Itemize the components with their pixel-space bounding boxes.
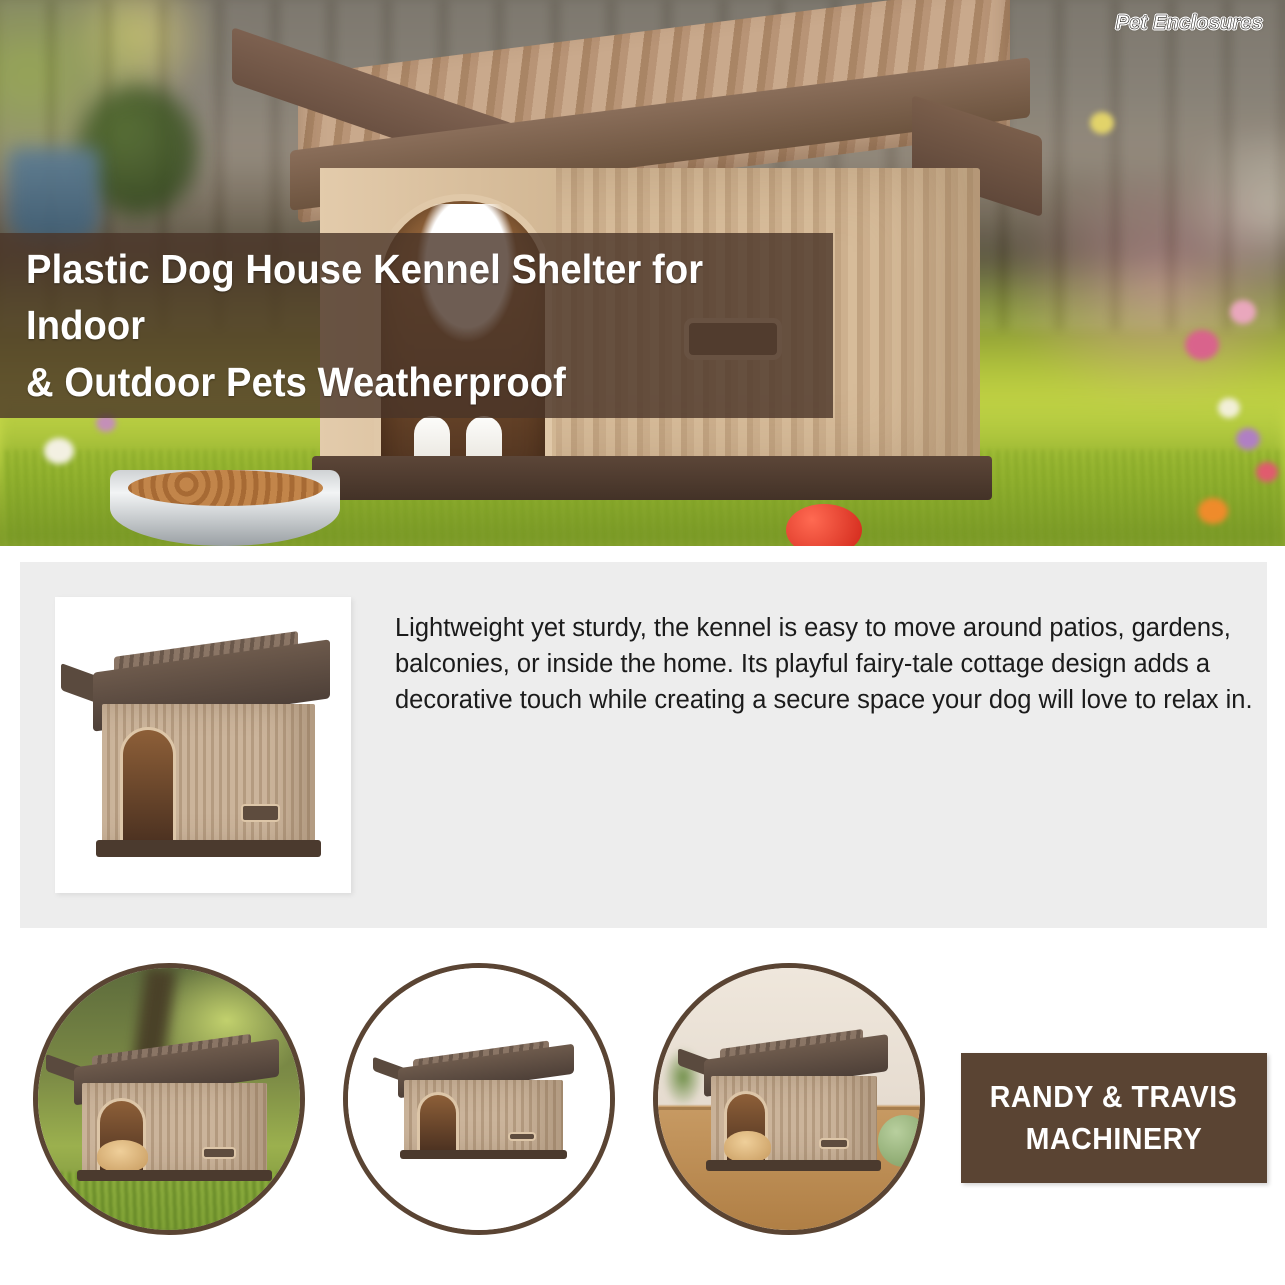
kennel-base	[400, 1150, 567, 1159]
flower	[1230, 300, 1256, 324]
golden-puppy	[724, 1131, 770, 1162]
hero-title-line-1: Plastic Dog House Kennel Shelter for Ind…	[26, 241, 756, 354]
flower	[44, 438, 74, 464]
kennel-doorway	[417, 1092, 459, 1153]
kennel-vent	[241, 804, 279, 822]
kibble	[128, 470, 323, 506]
flower	[1090, 112, 1114, 134]
product-description: Lightweight yet sturdy, the kennel is ea…	[395, 610, 1265, 719]
kennel-vent	[202, 1147, 235, 1158]
thumbnail-product-3	[674, 1010, 905, 1193]
flower	[1236, 428, 1260, 450]
flower	[1198, 498, 1228, 524]
kennel-base	[77, 1170, 272, 1181]
dog-house-illustration	[369, 1026, 589, 1178]
dog-house-illustration	[41, 1015, 298, 1204]
info-panel: Lightweight yet sturdy, the kennel is ea…	[20, 562, 1267, 928]
kennel-base	[312, 456, 992, 500]
hero-title: Plastic Dog House Kennel Shelter for Ind…	[0, 241, 775, 411]
kennel-base	[706, 1160, 881, 1171]
thumbnail-studio[interactable]	[343, 963, 615, 1235]
sleeping-puppy	[97, 1140, 148, 1172]
flower	[1256, 462, 1278, 482]
kennel-vent	[508, 1132, 537, 1141]
flower	[1185, 330, 1219, 360]
thumbnail-outdoor[interactable]	[33, 963, 305, 1235]
hero-banner: Pet Enclosures Plastic Dog House Kennel …	[0, 0, 1285, 546]
pet-enclosures-label: Pet Enclosures	[1116, 12, 1263, 35]
product-dog-house-illustration	[55, 597, 351, 893]
hero-title-line-2: & Outdoor Pets Weatherproof	[26, 354, 756, 411]
dog-house-illustration	[674, 1010, 905, 1193]
flower	[1218, 398, 1240, 418]
flower-pot	[8, 148, 100, 244]
brand-badge: RANDY & TRAVIS MACHINERY	[961, 1053, 1267, 1183]
thumbnail-indoor[interactable]	[653, 963, 925, 1235]
thumbnail-product-1	[41, 1015, 298, 1204]
kennel-vent	[819, 1138, 849, 1149]
thumbnail-product-2	[369, 1026, 589, 1178]
kennel-doorway	[120, 727, 176, 845]
hero-title-banner: Plastic Dog House Kennel Shelter for Ind…	[0, 233, 833, 418]
brand-name-line-2: MACHINERY	[1026, 1118, 1203, 1160]
brand-name-line-1: RANDY & TRAVIS	[990, 1076, 1238, 1118]
kennel-base	[96, 840, 321, 858]
product-image-card	[55, 597, 351, 893]
